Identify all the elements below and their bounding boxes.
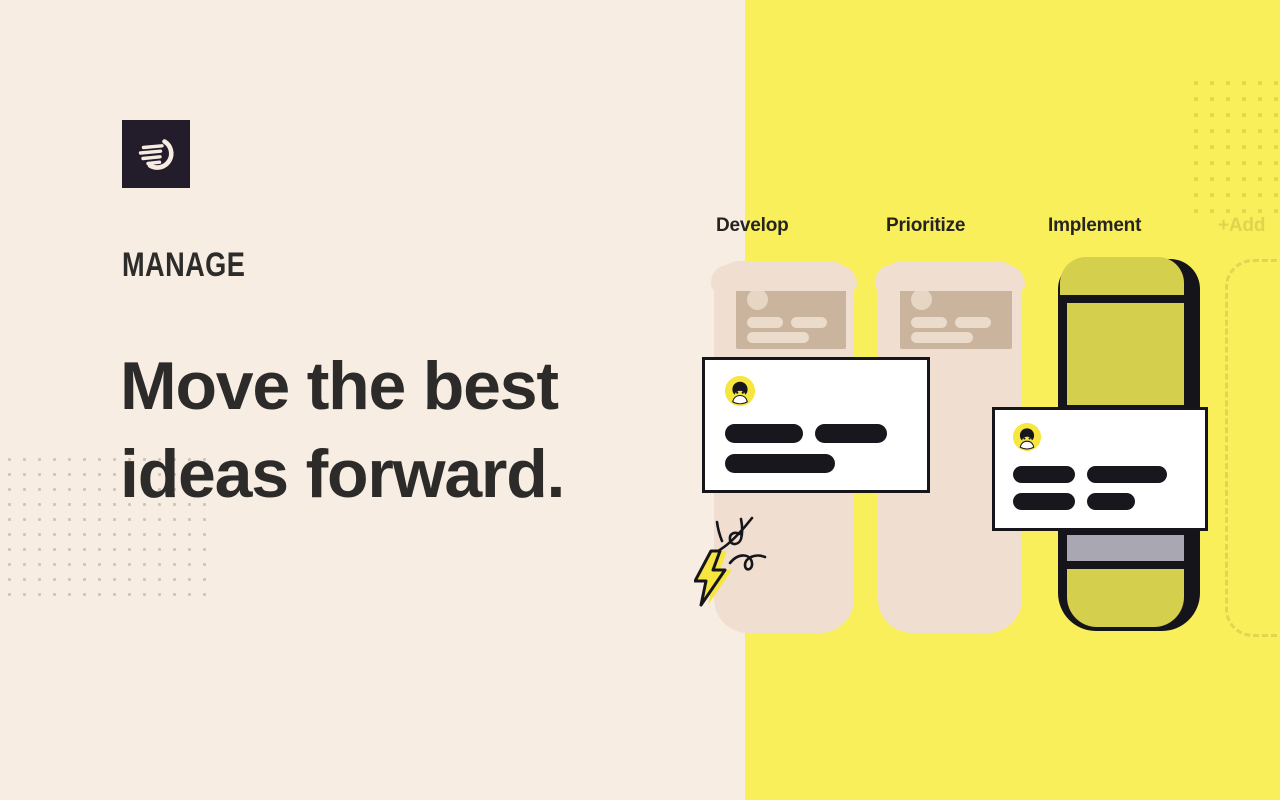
mini-line <box>747 317 783 328</box>
implement-slab-band-light <box>1067 535 1184 561</box>
avatar-circle-icon <box>911 289 932 310</box>
page-title: Move the best ideas forward. <box>120 342 720 518</box>
implement-slab-bottom <box>1067 569 1184 627</box>
brand-logo[interactable] <box>122 120 190 188</box>
column-prioritize-mini-card[interactable] <box>900 279 1012 349</box>
mini-line <box>955 317 991 328</box>
column-add-placeholder[interactable] <box>1225 259 1280 637</box>
lightning-bolt-icon <box>694 548 740 608</box>
avatar-face-icon <box>725 376 755 406</box>
card-text-line <box>815 424 887 443</box>
mini-line <box>911 317 947 328</box>
column-develop-mini-card[interactable] <box>736 279 846 349</box>
floating-card-develop[interactable] <box>702 357 930 493</box>
floating-card-implement[interactable] <box>992 407 1208 531</box>
column-header-implement[interactable]: Implement <box>1048 215 1141 237</box>
card-text-line <box>1013 493 1075 510</box>
card-text-line <box>1087 493 1135 510</box>
card-text-line <box>725 454 835 473</box>
mini-line <box>747 332 809 343</box>
swoosh-circle-logo-icon <box>134 132 178 176</box>
eyebrow-label: MANAGE <box>122 246 245 285</box>
column-header-prioritize[interactable]: Prioritize <box>886 215 965 237</box>
kanban-board: Develop Prioritize Implement +Add <box>700 215 1280 635</box>
card-text-line <box>725 424 803 443</box>
column-header-develop[interactable]: Develop <box>716 215 789 237</box>
hero-banner: MANAGE Move the best ideas forward. Deve… <box>0 0 1280 800</box>
mini-line <box>791 317 827 328</box>
avatar-face-yellow-icon <box>725 376 755 406</box>
avatar-face-icon <box>1013 423 1041 451</box>
card-text-line <box>1013 466 1075 483</box>
implement-slab-card[interactable] <box>1067 303 1184 405</box>
card-text-line <box>1087 466 1167 483</box>
avatar-circle-icon <box>747 289 768 310</box>
mini-line <box>911 332 973 343</box>
avatar-face-yellow-icon <box>1013 423 1041 451</box>
dot-grid-right-decoration <box>1185 72 1280 220</box>
implement-slab-top <box>1060 257 1184 295</box>
column-header-add[interactable]: +Add <box>1218 215 1265 237</box>
